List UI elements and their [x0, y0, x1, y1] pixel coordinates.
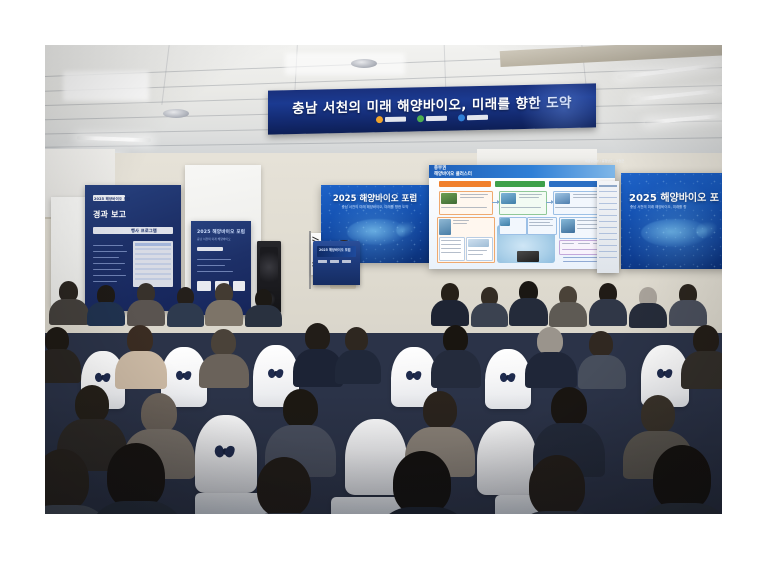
chair-bow	[500, 373, 515, 382]
chair-bow	[95, 373, 110, 382]
organizer-logo-icon	[376, 116, 406, 124]
pullup2-title: 2025 해양바이오 포럼	[197, 229, 245, 235]
slide-thumbnail	[468, 239, 489, 247]
slide-flow-arrow	[546, 202, 552, 203]
slide-thumbnail	[501, 193, 516, 204]
left-screen-subtitle: 충남 서천의 미래 해양바이오, 미래를 향한 도약	[321, 204, 429, 209]
slide-thumbnail	[555, 193, 570, 204]
podium: 2025 해양바이오 포럼	[313, 241, 360, 285]
pullup-badge: 2025 해양바이오 포럼	[94, 196, 130, 201]
slide-thumbnail	[441, 193, 457, 204]
right-wall-chart-panel	[597, 181, 619, 273]
right-projection-screen: 2025 해양바이오 포 충남 서천의 미래 해양바이오, 미래를 향	[621, 173, 722, 269]
slide-thumbnail	[439, 219, 451, 235]
chair-cover	[477, 421, 537, 495]
slide-chip-2	[495, 181, 545, 187]
right-screen-subtitle: 충남 서천의 미래 해양바이오, 미래를 향	[621, 204, 722, 209]
podium-plate: 2025 해양바이오 포럼	[317, 246, 356, 257]
banner-text: 충남 서천의 미래 해양바이오, 미래를 향한 도약	[268, 90, 596, 117]
pullup-section-label: 행사 프로그램	[131, 228, 157, 234]
slide-corner-note: 해양수산부 / 충청남도 / 서천군	[585, 159, 624, 163]
slide-thumbnail	[561, 219, 575, 233]
podium-logo-row	[318, 260, 351, 263]
whale-illustration	[641, 219, 707, 247]
ceiling-speaker-icon	[163, 109, 189, 118]
right-screen-title: 2025 해양바이오 포	[621, 189, 722, 204]
page-root: 충남 서천의 미래 해양바이오, 미래를 향한 도약 2025 해양바이오 포럼…	[0, 0, 765, 570]
pullup-title: 경과 보고	[93, 209, 126, 220]
ceiling-speaker-icon	[351, 59, 377, 68]
podium-plate-text: 2025 해양바이오 포럼	[319, 247, 351, 252]
slide-chip-1	[439, 181, 491, 187]
chair-bow	[406, 371, 421, 380]
slide-photo-inset	[517, 251, 539, 262]
center-presentation-slide: 중부권 해양바이오 클러스터	[429, 165, 615, 269]
organizer-logo-icon	[458, 114, 488, 122]
slide-flow-arrow	[492, 202, 498, 203]
slide-thumbnail	[500, 218, 510, 226]
chair-bow	[176, 371, 191, 380]
slide-header: 중부권 해양바이오 클러스터	[429, 165, 615, 178]
chair-bow	[657, 369, 672, 378]
chair-bow	[268, 369, 283, 378]
hanging-banner: 충남 서천의 미래 해양바이오, 미래를 향한 도약	[268, 83, 596, 134]
pullup2-subtitle: 충남 서천의 미래 해양바이오	[197, 237, 231, 241]
conference-photo: 충남 서천의 미래 해양바이오, 미래를 향한 도약 2025 해양바이오 포럼…	[45, 45, 722, 514]
chair-bow	[215, 446, 235, 458]
organizer-logo-icon	[417, 115, 447, 123]
slide-header-line1: 중부권	[434, 166, 446, 171]
left-screen-title: 2025 해양바이오 포럼	[321, 192, 429, 204]
slide-header-line2: 해양바이오 클러스터	[434, 172, 472, 177]
